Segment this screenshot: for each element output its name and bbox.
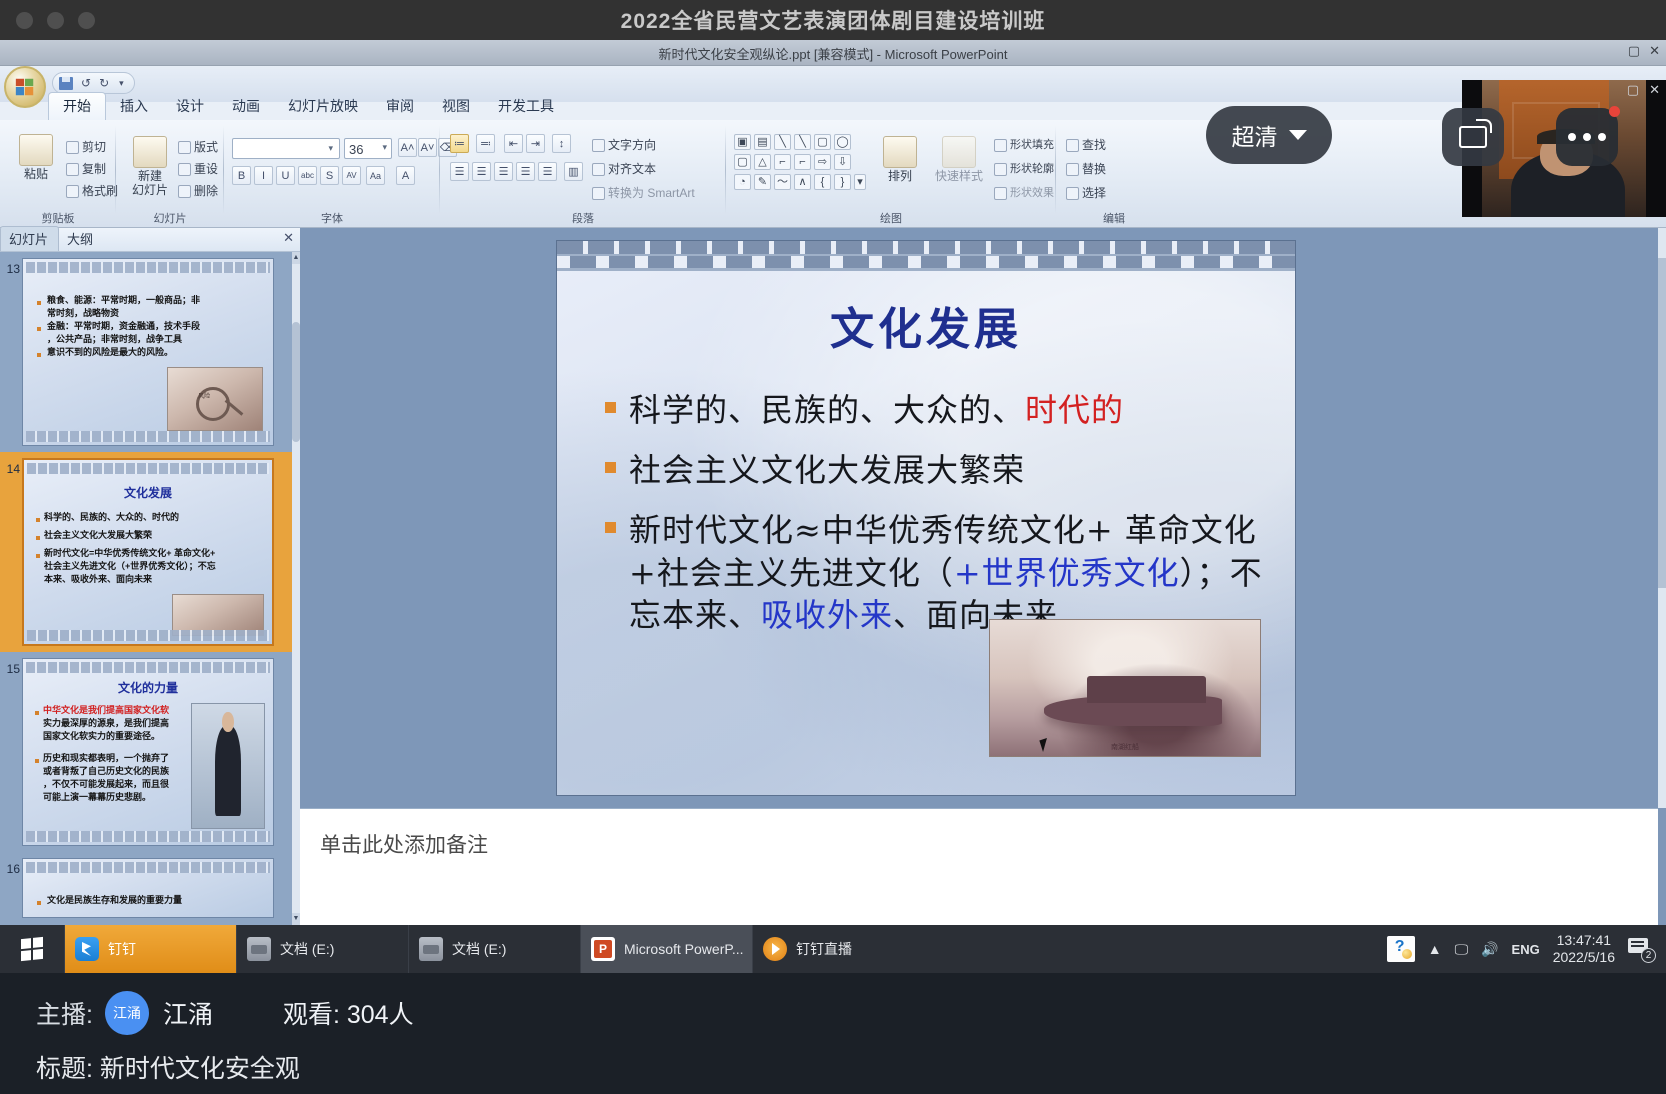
shapes-more-icon[interactable]: ▾: [854, 174, 866, 190]
thumb-text-line: 社会主义文化大发展大繁荣: [44, 530, 152, 541]
grow-font-button[interactable]: A˄: [398, 138, 417, 157]
start-button[interactable]: [0, 925, 64, 973]
justify-button[interactable]: ☰: [516, 162, 535, 181]
slide-bullet-text-1: 科学的、民族的、大众的、时代的: [629, 389, 1271, 431]
more-dot-3: [1598, 133, 1606, 141]
align-left-button[interactable]: ☰: [450, 162, 469, 181]
shape-pie-icon[interactable]: ◔: [734, 174, 751, 190]
align-text-icon: [592, 163, 605, 176]
undo-icon[interactable]: ↺: [81, 76, 91, 90]
bullet-marker: [37, 301, 41, 305]
office-button[interactable]: [4, 66, 46, 108]
customize-quick-access-icon[interactable]: ▾: [119, 78, 124, 89]
bullet-marker: [37, 327, 41, 331]
thumb-text-line: 国家文化软实力的重要途径。: [43, 731, 160, 742]
search-icon: [1066, 139, 1079, 152]
shape-triangle-icon[interactable]: △: [754, 154, 771, 170]
ribbon: 粘贴 剪切 复制 格式刷 剪贴板: [0, 120, 1666, 228]
thumb-text-line: 可能上演一幕幕历史悲剧。: [43, 792, 151, 803]
shape-effects-button[interactable]: 形状效果: [994, 184, 1054, 200]
boat-cabin-shape: [1087, 676, 1206, 703]
shape-arrow-right-icon[interactable]: ⇨: [814, 154, 831, 170]
bullet-1-segment-1: 科学的、民族的、大众的、: [629, 391, 1025, 429]
host-label: 主播:: [36, 995, 93, 1031]
slide-number: 15: [2, 662, 20, 676]
taskbar-item-explorer-2[interactable]: 文档 (E:): [408, 925, 580, 973]
webcam-restore-icon[interactable]: ▢: [1627, 82, 1639, 98]
clock-time: 13:47:41: [1557, 932, 1612, 948]
convert-smartart-button[interactable]: 转换为 SmartArt: [592, 184, 695, 201]
thumb-text-line: 金融：平常时期，资金融通，技术手段: [47, 321, 200, 332]
shape-curve-icon[interactable]: 〜: [774, 174, 791, 190]
shape-outline-icon: [994, 163, 1007, 176]
shape-outline-button[interactable]: 形状轮廓: [994, 160, 1054, 176]
notes-placeholder: 单击此处添加备注: [320, 829, 488, 859]
thumbnail-slide-16[interactable]: 16 文化是民族生存和发展的重要力量: [0, 852, 292, 924]
thumb-text-line: 社会主义先进文化（+世界优秀文化）；不忘: [44, 561, 216, 572]
save-icon[interactable]: [59, 77, 73, 90]
bullet-1-segment-2: 时代的: [1025, 391, 1124, 429]
panel-tab-bar[interactable]: 幻灯片 大纲 ✕: [0, 228, 300, 252]
slide-body-placeholder[interactable]: 科学的、民族的、大众的、时代的 社会主义文化大发展大繁荣 新时代文化≈中华优秀传…: [599, 389, 1271, 654]
slide-bullet-text-3: 新时代文化≈中华优秀传统文化+ 革命文化+社会主义先进文化（+世界优秀文化）；不…: [629, 509, 1271, 636]
volume-icon[interactable]: 🔊: [1481, 941, 1498, 958]
bullet-marker-icon: [605, 402, 616, 413]
taskbar-item-label: 文档 (E:): [280, 939, 334, 959]
bullet-marker: [36, 554, 40, 558]
cut-button[interactable]: 剪切: [66, 138, 106, 155]
thumb-title: 文化的力量: [23, 679, 273, 696]
increase-indent-button[interactable]: ⇥: [526, 134, 545, 153]
shape-textbox-icon[interactable]: ▣: [734, 134, 751, 150]
bullet-marker: [35, 711, 39, 715]
bullet-marker-icon: [605, 462, 616, 473]
viewer-count: 观看: 304人: [283, 995, 414, 1031]
decrease-indent-button[interactable]: ⇤: [504, 134, 523, 153]
replace-icon: [1066, 163, 1079, 176]
scroll-down-icon[interactable]: ▼: [292, 913, 300, 925]
slide-image-caption: 南湖红船: [990, 742, 1260, 752]
brick-border-icon: [26, 862, 270, 873]
panel-close-icon[interactable]: ✕: [283, 230, 294, 246]
thumb-title: 文化发展: [24, 484, 272, 501]
thumbnail-photo: [191, 703, 265, 829]
thumb-text-line: 新时代文化=中华优秀传统文化+ 革命文化+: [44, 548, 215, 559]
slide-image-red-boat[interactable]: 南湖红船: [989, 619, 1261, 757]
text-direction-icon: [592, 139, 605, 152]
video-quality-label: 超清: [1232, 118, 1278, 152]
scroll-up-icon[interactable]: ▲: [292, 252, 300, 264]
underline-button[interactable]: U: [276, 166, 295, 185]
thumbnail-canvas: 文化的力量 中华文化是我们提高国家文化软 实力最深厚的源泉，是我们提高 国家文化…: [22, 658, 274, 846]
ribbon-group-clipboard: 粘贴 剪切 复制 格式刷 剪贴板: [0, 120, 116, 228]
shape-line-icon[interactable]: ╲: [774, 134, 791, 150]
taskbar-item-dingtalk[interactable]: 钉钉: [64, 925, 236, 973]
thumbnail-canvas: 粮食、能源：平常时期，一般商品；非 常时刻，战略物资 金融：平常时期，资金融通，…: [22, 258, 274, 446]
more-dot-1: [1568, 133, 1576, 141]
webcam-close-icon[interactable]: ✕: [1649, 82, 1660, 98]
thumbnail-canvas: 文化是民族生存和发展的重要力量: [22, 858, 274, 918]
shape-fill-icon: [994, 139, 1007, 152]
delete-icon: [178, 185, 191, 198]
brick-border-icon: [26, 262, 270, 273]
host-row: 主播: 江涌 江涌 观看: 304人: [36, 991, 414, 1035]
quick-access-buttons[interactable]: ↺ ↻ ▾: [52, 72, 135, 94]
align-center-button[interactable]: ☰: [472, 162, 491, 181]
thumb-text-line: 科学的、民族的、大众的、时代的: [44, 512, 179, 523]
live-info-bar: 主播: 江涌 江涌 观看: 304人 标题: 新时代文化安全观: [0, 973, 1666, 1094]
ribbon-group-slides: 新建 幻灯片 版式 重设 删除 幻灯片: [116, 120, 224, 228]
shape-freeform-icon[interactable]: ✎: [754, 174, 771, 190]
taskbar-item-label: 钉钉直播: [796, 939, 852, 959]
powerpoint-window-buttons[interactable]: ▢ ✕: [1628, 44, 1660, 58]
show-hidden-icons-button[interactable]: ▲: [1428, 941, 1442, 957]
shape-brace-left-icon[interactable]: {: [814, 174, 831, 190]
bullet-2-segment-1: 社会主义文化大发展大繁荣: [629, 451, 1025, 489]
group-label-clipboard: 剪贴板: [0, 210, 116, 226]
keyboard-language-indicator[interactable]: ENG: [1512, 942, 1540, 957]
webcam-window-buttons[interactable]: ▢ ✕: [1627, 82, 1660, 98]
thumbnail-scrollbar[interactable]: ▲ ▼: [292, 252, 300, 925]
ribbon-group-drawing: ▣ ▤ ╲ ╲ ▢ ◯ ▢ △ ⌐ ⌐ ⇨ ⇩ ◔ ✎ 〜 ∧ {: [726, 120, 1056, 228]
new-slide-button[interactable]: 新建 幻灯片: [122, 136, 178, 198]
windows-taskbar: 钉钉 文档 (E:) 文档 (E:) Microsoft PowerP... 钉…: [0, 925, 1666, 973]
slide-thumbnail-panel: 幻灯片 大纲 ✕ 13 粮食、能源：平常时期，一般商品；非 常时刻，战略物资: [0, 228, 300, 925]
chevron-down-icon[interactable]: ▾: [382, 142, 387, 153]
taskbar-item-label: 文档 (E:): [452, 939, 506, 959]
scrollbar-thumb[interactable]: [292, 322, 300, 442]
strikethrough-button[interactable]: abc: [298, 166, 317, 185]
tab-home[interactable]: 开始: [48, 92, 106, 120]
align-right-button[interactable]: ☰: [494, 162, 513, 181]
columns-button[interactable]: ▥: [564, 162, 583, 181]
thumbnail-canvas: 文化发展 科学的、民族的、大众的、时代的 社会主义文化大发展大繁荣 新时代文化=…: [22, 458, 274, 646]
slide-brick-border-icon: [557, 241, 1295, 271]
arrange-icon: [883, 136, 917, 168]
ribbon-group-editing: 查找 替换 选择 编辑: [1056, 120, 1172, 228]
reset-icon: [178, 163, 191, 176]
dingtalk-icon: [75, 937, 99, 961]
clock[interactable]: 13:47:41 2022/5/16: [1553, 932, 1615, 967]
bullet-marker: [36, 518, 40, 522]
reset-button[interactable]: 重设: [178, 160, 218, 177]
thumb-text-line: 意识不到的风险是最大的风险。: [47, 347, 173, 358]
slide-bullet-1: 科学的、民族的、大众的、时代的: [599, 389, 1271, 431]
slide-number: 13: [2, 262, 20, 276]
video-quality-button[interactable]: 超清: [1206, 106, 1332, 164]
delete-slide-button[interactable]: 删除: [178, 182, 218, 199]
scissors-icon: [66, 141, 79, 154]
scrollbar-thumb[interactable]: [1658, 258, 1666, 588]
close-icon[interactable]: ✕: [1649, 44, 1660, 58]
tab-review[interactable]: 审阅: [372, 93, 428, 120]
copy-button[interactable]: 复制: [66, 160, 106, 177]
font-color-button[interactable]: A: [396, 166, 415, 185]
find-button[interactable]: 查找: [1066, 136, 1106, 153]
thumb-text-line: ，不仅不可能发展起来，而且很: [43, 779, 169, 790]
slide-area-scrollbar[interactable]: [1658, 228, 1666, 808]
taskbar-item-explorer-1[interactable]: 文档 (E:): [236, 925, 408, 973]
text-direction-button[interactable]: 文字方向: [592, 136, 656, 153]
group-label-font: 字体: [224, 210, 440, 226]
thumb-text-line: 常时刻，战略物资: [47, 308, 119, 319]
font-name-input[interactable]: ▾: [232, 138, 340, 159]
shape-frame-icon[interactable]: ▤: [754, 134, 771, 150]
panel-tab-slides[interactable]: 幻灯片: [0, 226, 59, 251]
thumb-text-line: 实力最深厚的源泉，是我们提高: [43, 718, 169, 729]
thumbnail-slide-14[interactable]: 14 文化发展 科学的、民族的、大众的、时代的 社会主义文化大发展大繁荣 新时代…: [0, 452, 292, 652]
bullet-3-segment-6: 吸收外来: [761, 596, 893, 634]
shrink-font-button[interactable]: A˅: [418, 138, 437, 157]
chevron-down-icon[interactable]: ▾: [328, 143, 333, 154]
thumbnail-image-caption: 风险: [198, 394, 210, 402]
powerpoint-titlebar: 新时代文化安全观纵论.ppt [兼容模式] - Microsoft PowerP…: [0, 40, 1666, 66]
text-shadow-button[interactable]: S: [320, 166, 339, 185]
line-spacing-button[interactable]: ↕: [552, 134, 571, 153]
ribbon-group-font: ▾ 36 ▾ A˄ A˅ ⌫ B I U abc S AV Aa: [224, 120, 440, 228]
bullet-marker: [37, 901, 41, 905]
redo-icon[interactable]: ↻: [99, 76, 109, 90]
group-label-slides: 幻灯片: [116, 210, 224, 226]
picture-in-picture-icon: [1459, 126, 1487, 148]
shape-fill-button[interactable]: 形状填充: [994, 136, 1054, 152]
shape-rect-icon[interactable]: ▢: [814, 134, 831, 150]
replace-button[interactable]: 替换: [1066, 160, 1106, 177]
thumb-text-line: 历史和现实都表明，一个抛弃了: [43, 753, 169, 764]
webcam-letterbox-right: [1646, 80, 1666, 217]
mac-window-titlebar: 2022全省民营文艺表演团体剧目建设培训班: [0, 0, 1666, 40]
tab-insert[interactable]: 插入: [106, 93, 162, 120]
ribbon-group-paragraph: ≔ ≕ ⇤ ⇥ ↕ ☰ ☰ ☰ ☰ ☰ ▥ 文字方向 对齐文本: [440, 120, 726, 228]
bullet-3-segment-5: 本来、: [662, 596, 761, 634]
mac-window-title: 2022全省民营文艺表演团体剧目建设培训班: [0, 5, 1666, 35]
numbering-button[interactable]: ≕: [476, 134, 495, 153]
align-text-button[interactable]: 对齐文本: [592, 160, 656, 177]
arrange-button[interactable]: 排列: [874, 136, 926, 184]
folder-icon: [419, 937, 443, 961]
bullet-3-segment-2: 社会主义先进文化（: [657, 554, 954, 592]
more-options-button[interactable]: [1556, 108, 1618, 166]
notification-center-button[interactable]: 2: [1628, 938, 1654, 960]
network-icon[interactable]: 🖵: [1455, 941, 1469, 958]
brick-border-icon: [26, 431, 270, 442]
stream-title: 标题: 新时代文化安全观: [36, 1049, 300, 1085]
slide-title[interactable]: 文化发展: [557, 293, 1295, 357]
taskbar-item-label: Microsoft PowerP...: [624, 941, 744, 957]
brick-border-icon: [27, 463, 269, 474]
thumbnail-slide-15[interactable]: 15 文化的力量 中华文化是我们提高国家文化软 实力最深厚的源泉，是我们提高 国…: [0, 652, 292, 852]
thumb-text-line: 文化是民族生存和发展的重要力量: [47, 895, 182, 906]
paste-icon: [19, 134, 53, 166]
slide-bullet-2: 社会主义文化大发展大繁荣: [599, 449, 1271, 491]
brick-border-icon: [27, 630, 269, 641]
bullet-marker-icon: [605, 522, 616, 533]
picture-in-picture-button[interactable]: [1442, 108, 1504, 166]
brick-border-icon: [26, 662, 270, 673]
group-label-paragraph: 段落: [440, 210, 726, 226]
dingtalk-live-icon: [763, 937, 787, 961]
distribute-button[interactable]: ☰: [538, 162, 557, 181]
smartart-icon: [592, 187, 605, 200]
slide-number: 16: [2, 862, 20, 876]
brick-border-icon: [26, 831, 270, 842]
clock-date: 2022/5/16: [1553, 949, 1615, 965]
character-spacing-button[interactable]: AV: [342, 166, 361, 185]
tab-animations[interactable]: 动画: [218, 93, 274, 120]
thumb-text-line: 或者背叛了自己历史文化的民族: [43, 766, 169, 777]
change-case-button[interactable]: Aa: [366, 166, 385, 185]
host-name: 江涌: [163, 995, 213, 1031]
slide-bullet-text-2: 社会主义文化大发展大繁荣: [629, 449, 1271, 491]
avatar[interactable]: 江涌: [105, 991, 149, 1035]
taskbar-item-label: 钉钉: [108, 939, 136, 959]
format-painter-button[interactable]: 格式刷: [66, 182, 118, 199]
group-label-drawing: 绘图: [726, 210, 1056, 226]
shape-chevron-icon[interactable]: ∧: [794, 174, 811, 190]
notification-count-badge: 2: [1641, 948, 1656, 963]
slide-edit-area: 文化发展 科学的、民族的、大众的、时代的 社会主义文化大发展大繁荣 新时: [300, 228, 1666, 925]
thumb-text-line: ，公共产品；非常时刻，战争工具: [47, 334, 182, 345]
folder-icon: [247, 937, 271, 961]
person-silhouette-icon: [215, 726, 241, 815]
tab-design[interactable]: 设计: [162, 93, 218, 120]
windows-logo-icon: [21, 937, 43, 961]
chevron-down-icon[interactable]: [1289, 130, 1307, 140]
quick-styles-icon: [942, 136, 976, 168]
taskbar-item-dingtalk-live[interactable]: 钉钉直播: [752, 925, 924, 973]
shared-screen-stage: 新时代文化安全观纵论.ppt [兼容模式] - Microsoft PowerP…: [0, 40, 1666, 925]
slide-bullet-3: 新时代文化≈中华优秀传统文化+ 革命文化+社会主义先进文化（+世界优秀文化）；不…: [599, 509, 1271, 636]
new-slide-icon: [133, 136, 167, 168]
slide-canvas[interactable]: 文化发展 科学的、民族的、大众的、时代的 社会主义文化大发展大繁荣 新时: [556, 240, 1296, 796]
tab-view[interactable]: 视图: [428, 93, 484, 120]
layout-icon: [178, 141, 191, 154]
thumb-text-line: 粮食、能源：平常时期，一般商品；非: [47, 295, 200, 306]
bullets-button[interactable]: ≔: [450, 134, 469, 153]
slide-number: 14: [2, 462, 20, 476]
shape-oval-icon[interactable]: ◯: [834, 134, 851, 150]
thumb-text-line: 本来、吸收外来、面向未来: [44, 574, 152, 585]
thumbnail-image: 风险: [167, 367, 263, 431]
notification-dot-icon: [1609, 106, 1620, 117]
panel-tab-outline[interactable]: 大纲: [59, 227, 103, 251]
group-label-editing: 编辑: [1056, 210, 1172, 226]
thumbnail-slide-13[interactable]: 13 粮食、能源：平常时期，一般商品；非 常时刻，战略物资 金融：平常时期，资金…: [0, 252, 292, 452]
copy-icon: [66, 163, 79, 176]
bullet-marker: [37, 353, 41, 357]
shape-square-icon[interactable]: ▢: [734, 154, 751, 170]
bold-button[interactable]: B: [232, 166, 251, 185]
system-tray: ▲ 🖵 🔊 ENG 13:47:41 2022/5/16 2: [1387, 925, 1666, 973]
shape-arrow-icon[interactable]: ╲: [794, 134, 811, 150]
powerpoint-window: 新时代文化安全观纵论.ppt [兼容模式] - Microsoft PowerP…: [0, 40, 1666, 925]
thumb-text-line: 中华文化是我们提高国家文化软: [43, 705, 169, 716]
paintbrush-icon: [66, 185, 79, 198]
shape-connector-icon[interactable]: ⌐: [794, 154, 811, 170]
select-icon: [1066, 187, 1079, 200]
shape-arrow-down-icon[interactable]: ⇩: [834, 154, 851, 170]
restore-icon[interactable]: ▢: [1628, 44, 1640, 58]
paste-label: 粘贴: [24, 167, 48, 181]
paste-button[interactable]: 粘贴: [8, 134, 64, 182]
italic-button[interactable]: I: [254, 166, 273, 185]
shape-brace-right-icon[interactable]: }: [834, 174, 851, 190]
ribbon-tab-bar[interactable]: 开始 插入 设计 动画 幻灯片放映 审阅 视图 开发工具: [48, 96, 568, 120]
bullet-marker: [36, 536, 40, 540]
powerpoint-icon: [591, 937, 615, 961]
bullet-marker: [35, 759, 39, 763]
tab-slideshow[interactable]: 幻灯片放映: [274, 93, 372, 120]
quick-styles-button[interactable]: 快速样式: [928, 136, 990, 184]
select-button[interactable]: 选择: [1066, 184, 1106, 201]
more-dot-2: [1583, 133, 1591, 141]
layout-button[interactable]: 版式: [178, 138, 218, 155]
tab-developer[interactable]: 开发工具: [484, 93, 568, 120]
thumbnail-list[interactable]: 13 粮食、能源：平常时期，一般商品；非 常时刻，战略物资 金融：平常时期，资金…: [0, 252, 292, 925]
bullet-3-segment-3: +世界优秀文化: [954, 554, 1180, 592]
powerpoint-title: 新时代文化安全观纵论.ppt [兼容模式] - Microsoft PowerP…: [0, 44, 1666, 63]
notes-pane[interactable]: 单击此处添加备注: [300, 808, 1658, 925]
ime-icon[interactable]: [1387, 936, 1415, 962]
shape-elbow-icon[interactable]: ⌐: [774, 154, 791, 170]
shape-effects-icon: [994, 187, 1007, 200]
taskbar-item-powerpoint[interactable]: Microsoft PowerP...: [580, 925, 752, 973]
font-size-input[interactable]: 36 ▾: [344, 138, 392, 159]
office-logo-icon: [14, 76, 36, 98]
